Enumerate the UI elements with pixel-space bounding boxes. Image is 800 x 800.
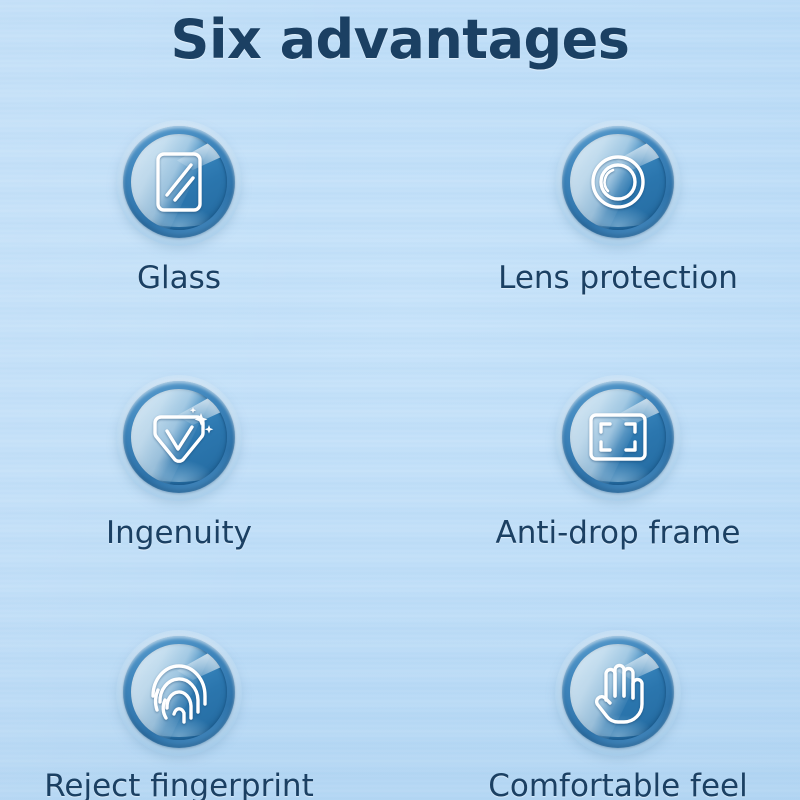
badge-lens-protection[interactable] bbox=[555, 120, 681, 246]
six-advantages-poster: Six advantages bbox=[0, 0, 800, 800]
badge-rim-light bbox=[143, 460, 216, 482]
badge-disc bbox=[570, 134, 666, 230]
advantages-grid: Glass Lens pro bbox=[0, 120, 800, 800]
badge-disc bbox=[131, 134, 227, 230]
badge-rim-light bbox=[143, 205, 216, 227]
advantage-label: Lens protection bbox=[498, 263, 738, 294]
advantage-label: Comfortable feel bbox=[488, 771, 747, 800]
advantage-item-lens-protection[interactable]: Lens protection bbox=[418, 120, 800, 294]
badge-comfortable-feel[interactable] bbox=[555, 630, 681, 756]
badge-rim-light bbox=[582, 715, 655, 737]
badge-disc bbox=[570, 644, 666, 740]
page-title: Six advantages bbox=[0, 8, 800, 71]
badge-glass[interactable] bbox=[116, 120, 242, 246]
badge-rim-light bbox=[582, 460, 655, 482]
advantage-label: Reject fingerprint bbox=[44, 771, 313, 800]
badge-rim-light bbox=[582, 205, 655, 227]
advantage-item-ingenuity[interactable]: Ingenuity bbox=[0, 375, 379, 549]
advantage-item-reject-fingerprint[interactable]: Reject fingerprint bbox=[0, 630, 379, 800]
badge-rim-light bbox=[143, 715, 216, 737]
badge-disc bbox=[131, 644, 227, 740]
badge-reject-fingerprint[interactable] bbox=[116, 630, 242, 756]
advantage-label: Anti-drop frame bbox=[496, 518, 741, 549]
badge-ingenuity[interactable] bbox=[116, 375, 242, 501]
badge-disc bbox=[570, 389, 666, 485]
advantage-label: Glass bbox=[137, 263, 221, 294]
advantage-item-comfortable-feel[interactable]: Comfortable feel bbox=[418, 630, 800, 800]
badge-anti-drop-frame[interactable] bbox=[555, 375, 681, 501]
badge-disc bbox=[131, 389, 227, 485]
advantage-label: Ingenuity bbox=[106, 518, 252, 549]
advantage-item-anti-drop-frame[interactable]: Anti-drop frame bbox=[418, 375, 800, 549]
advantage-item-glass[interactable]: Glass bbox=[0, 120, 379, 294]
